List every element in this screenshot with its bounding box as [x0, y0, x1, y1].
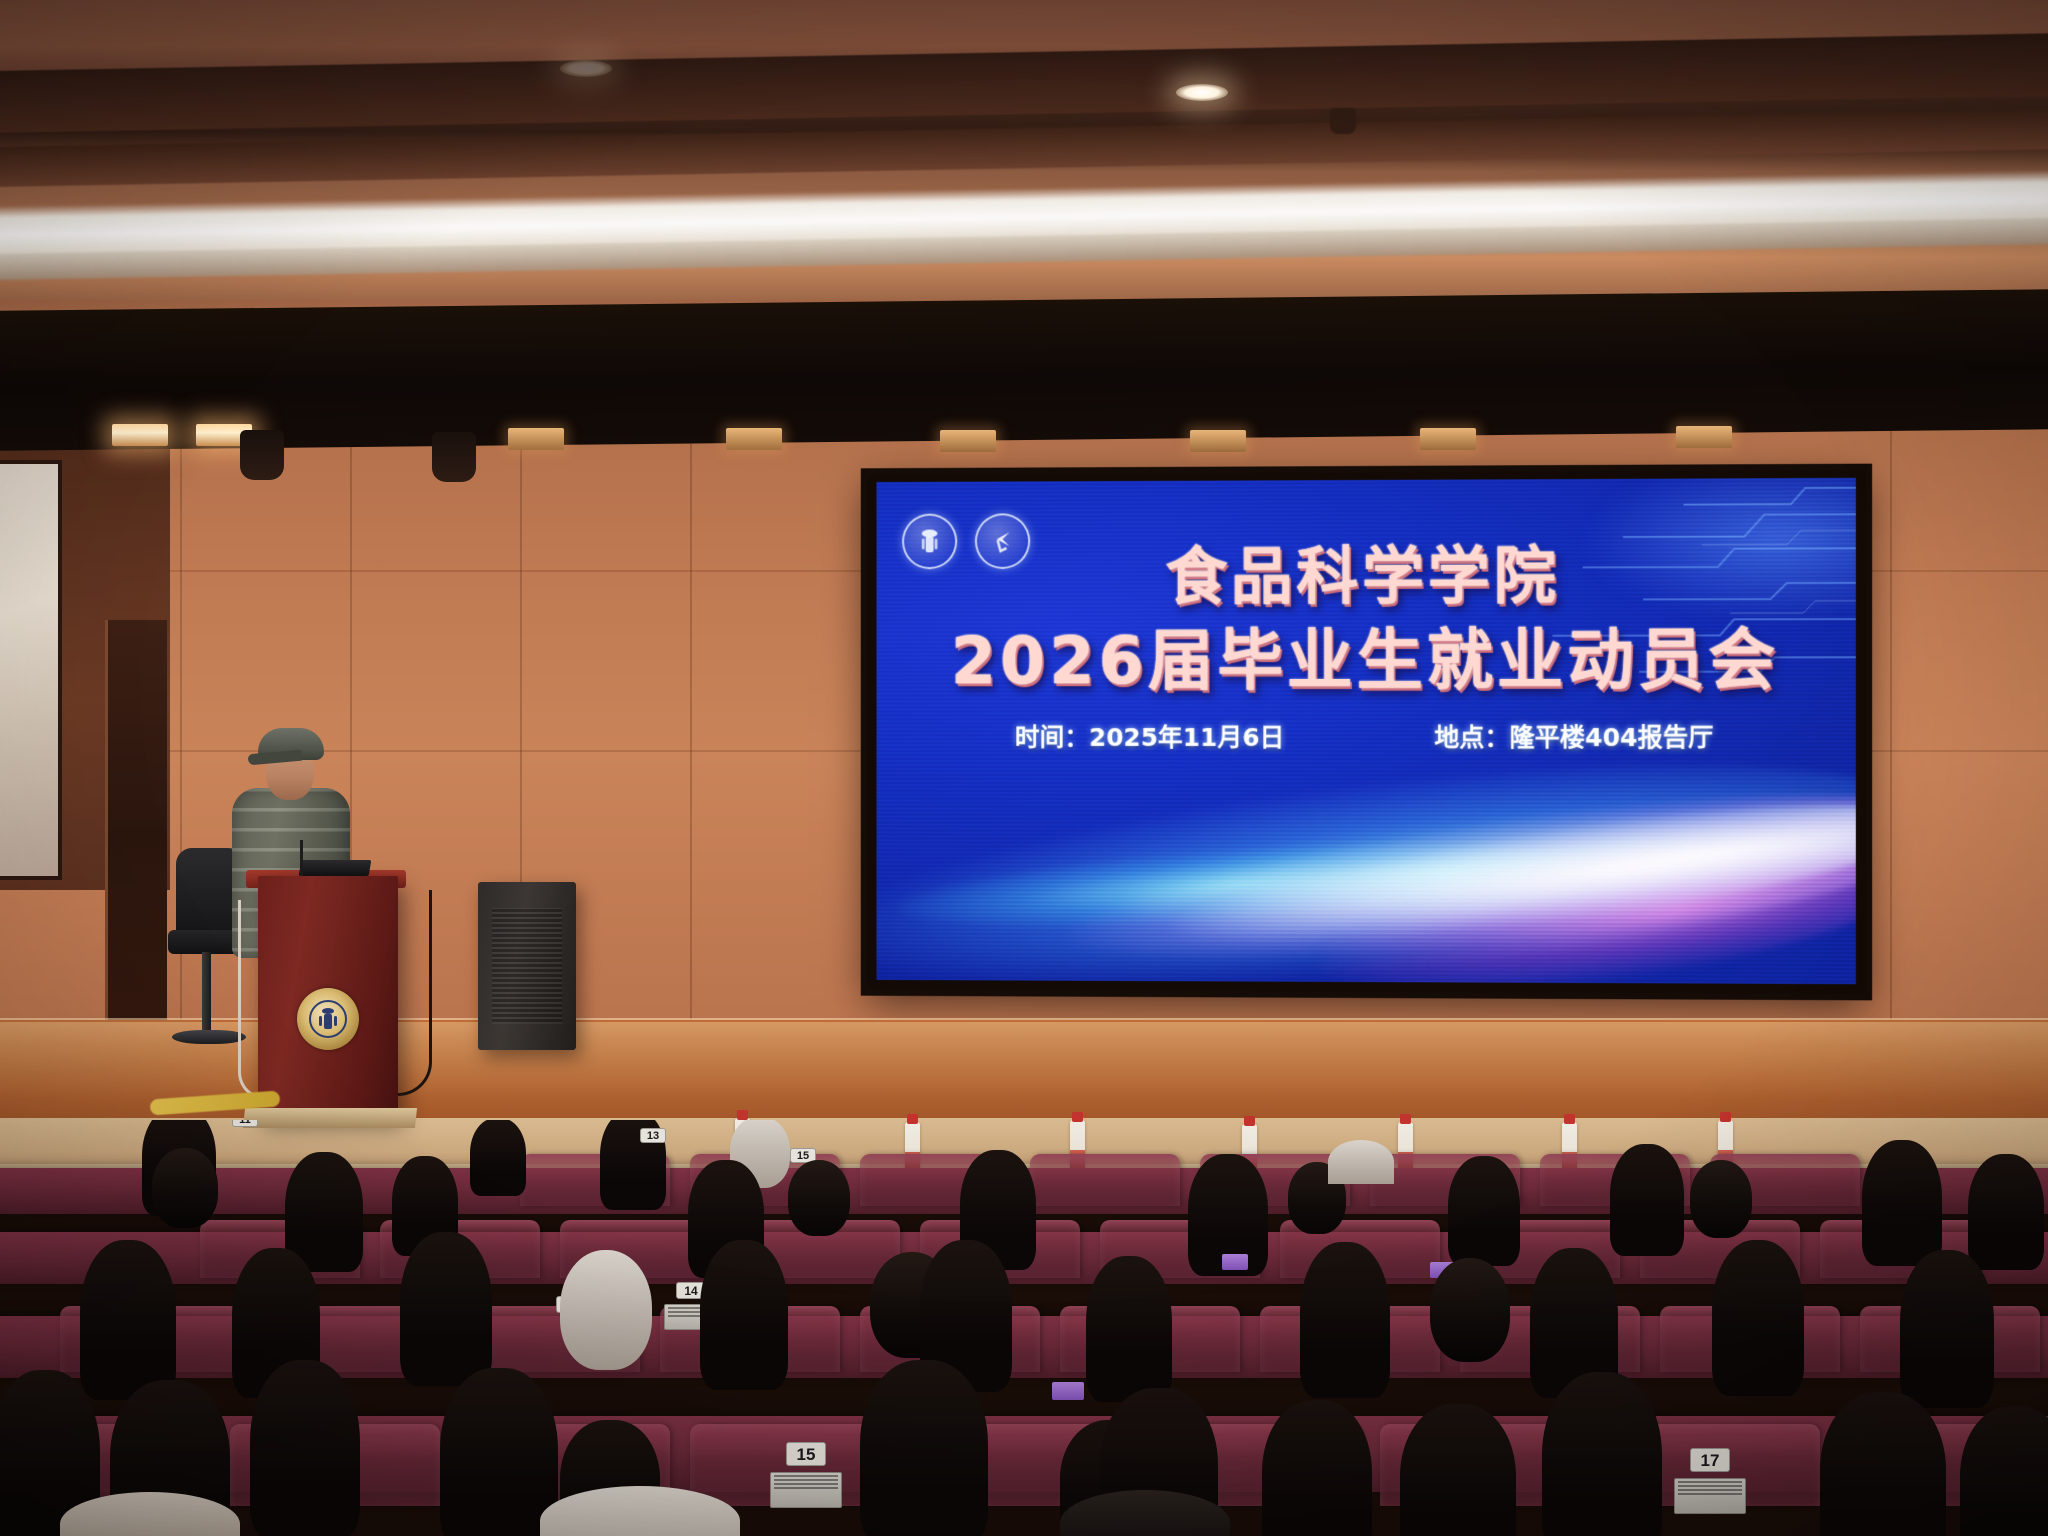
audience-head [1300, 1242, 1390, 1398]
led-presentation-screen: 食品科学学院 2026届毕业生就业动员会 时间：2025年11月6日 地点：隆平… [867, 470, 1866, 995]
audience-head [80, 1240, 176, 1400]
screen-meta-place: 地点：隆平楼404报告厅 [1434, 718, 1713, 754]
audience-head [1400, 1404, 1516, 1536]
seat-indicator-badge [1052, 1382, 1084, 1400]
audience-head [400, 1232, 492, 1386]
stage-spotlight-icon [940, 430, 996, 452]
plate-line [1678, 1481, 1742, 1483]
ceiling-downlight-icon [1176, 84, 1228, 101]
audience-head [700, 1240, 788, 1390]
screen-title-line-1: 食品科学学院 [877, 536, 1856, 616]
audience-head [560, 1250, 652, 1370]
audio-cable [398, 890, 432, 1096]
audience-head [1448, 1156, 1520, 1266]
plate-line [1678, 1485, 1742, 1487]
side-projection-screen [0, 460, 62, 880]
audience-head [788, 1160, 850, 1236]
audience-head [1430, 1258, 1510, 1362]
stage-spotlight-icon [1420, 428, 1476, 450]
audience-head [440, 1368, 558, 1536]
wall-seam [690, 420, 692, 1040]
audience-seating-area: 11 13 15 14 14 [0, 1120, 2048, 1536]
stage-spotlight-icon [1676, 426, 1732, 448]
audience-head [1610, 1144, 1684, 1256]
seat-indicator-badge [1222, 1254, 1248, 1270]
moving-head-light-icon [432, 432, 476, 482]
ceiling-downlight-icon [560, 60, 612, 77]
screen-meta-block: 时间：2025年11月6日 地点：隆平楼404报告厅 [877, 718, 1856, 754]
audience-head [1968, 1154, 2044, 1270]
podium-laptop[interactable] [299, 860, 372, 876]
audience-head [1820, 1392, 1946, 1536]
audience-head [1690, 1160, 1752, 1238]
wall-seam [1890, 420, 1892, 1040]
office-chair-base [172, 1030, 246, 1044]
stage-side-door[interactable] [105, 620, 167, 1050]
bottle-cap [737, 1110, 748, 1120]
audience-head [860, 1360, 988, 1536]
seat-back[interactable] [1030, 1154, 1180, 1206]
seat-info-plate [770, 1472, 842, 1508]
audience-head [1262, 1400, 1372, 1536]
audience-head [1900, 1250, 1994, 1408]
plate-line [774, 1483, 838, 1485]
audience-head [152, 1148, 218, 1228]
university-seal-emblem-icon [297, 988, 359, 1050]
plate-line [774, 1479, 838, 1481]
office-chair-post [202, 952, 211, 1036]
stage-spotlight-icon [1190, 430, 1246, 452]
seat-number-tag: 15 [786, 1442, 826, 1466]
seal-glyph [308, 999, 348, 1039]
plate-line [774, 1475, 838, 1477]
floor-speaker-cabinet [478, 882, 576, 1050]
screen-title-block: 食品科学学院 2026届毕业生就业动员会 [877, 536, 1856, 704]
microphone-stand [300, 840, 303, 880]
moving-head-light-icon [240, 430, 284, 480]
audience-head [1542, 1372, 1662, 1536]
light-ribbon-decoration [877, 732, 1856, 984]
audience-head [1862, 1140, 1942, 1266]
plate-line [1678, 1493, 1742, 1495]
podium-lectern [258, 876, 398, 1116]
power-cable [238, 900, 266, 1100]
seat-number-tag: 13 [640, 1128, 666, 1143]
stage-spotlight-icon [726, 428, 782, 450]
audience-head [250, 1360, 360, 1536]
audience-head [1328, 1140, 1394, 1184]
led-screen-surface: 食品科学学院 2026届毕业生就业动员会 时间：2025年11月6日 地点：隆平… [877, 478, 1856, 984]
seat-info-plate [1674, 1478, 1746, 1514]
stage-spotlight-icon [112, 424, 168, 446]
auditorium-photo: 食品科学学院 2026届毕业生就业动员会 时间：2025年11月6日 地点：隆平… [0, 0, 2048, 1536]
stage-lighting-truss [0, 289, 2048, 451]
screen-title-line-2: 2026届毕业生就业动员会 [877, 614, 1856, 704]
stage-spotlight-icon [508, 428, 564, 450]
plate-line [774, 1487, 838, 1489]
seat-number-tag: 11 [232, 1120, 258, 1127]
audience-head [1712, 1240, 1804, 1396]
screen-meta-time: 时间：2025年11月6日 [1015, 718, 1285, 754]
plate-line [1678, 1489, 1742, 1491]
ceiling-speaker-icon [1330, 108, 1356, 134]
audience-head [470, 1120, 526, 1196]
audience-head [1086, 1256, 1172, 1402]
seat-number-tag: 17 [1690, 1448, 1730, 1472]
